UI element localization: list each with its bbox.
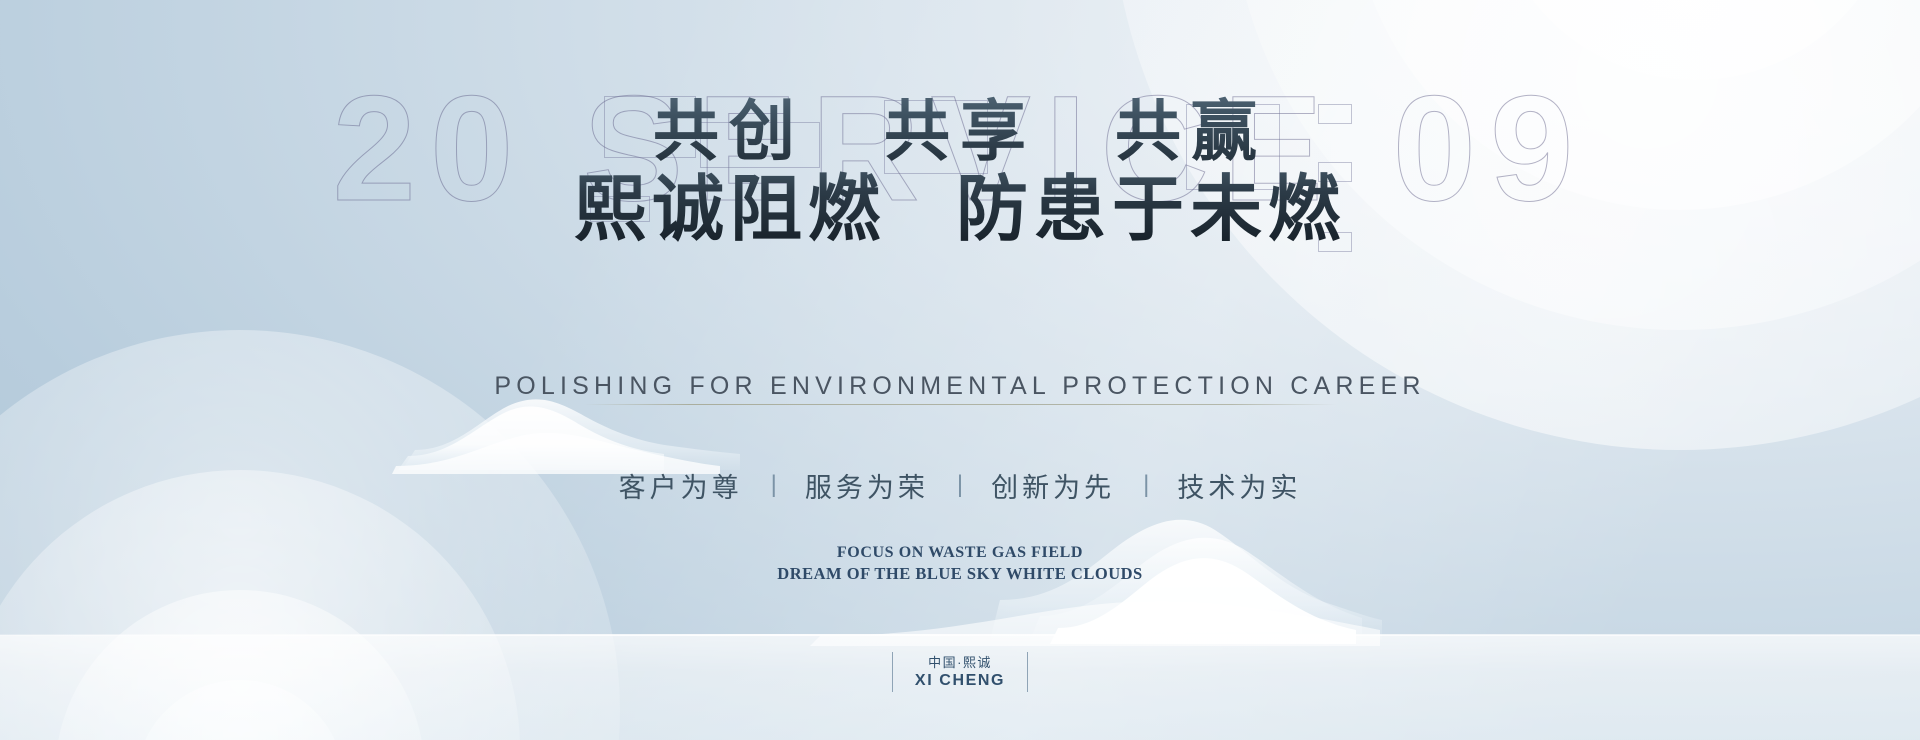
value-separator-3: | — [1141, 471, 1151, 499]
footer-logo: 中国·熙诚 XI CHENG — [0, 652, 1920, 692]
banner-hero: 20 SERVICE 09 — [0, 0, 1920, 740]
values-row: 客户为尊 | 服务为荣 | 创新为先 | 技术为实 — [0, 466, 1920, 505]
value-item-1: 客户为尊 — [593, 466, 769, 505]
logo-text: 中国·熙诚 XI CHENG — [915, 654, 1005, 690]
value-item-3: 创新为先 — [965, 466, 1141, 505]
value-item-2: 服务为荣 — [779, 466, 955, 505]
value-separator-2: | — [955, 471, 965, 499]
serif-subtitle-line-1: FOCUS ON WASTE GAS FIELD — [0, 542, 1920, 563]
logo-english: XI CHENG — [915, 671, 1005, 690]
headline-secondary: 熙诚阻燃 防患于未燃 — [0, 150, 1920, 255]
serif-subtitle-line-2: DREAM OF THE BLUE SKY WHITE CLOUDS — [0, 563, 1920, 585]
value-separator-1: | — [769, 471, 779, 499]
banner-content: 共创 共享 共赢 熙诚阻燃 防患于未燃 POLISHING FOR ENVIRO… — [0, 0, 1920, 740]
english-tagline: POLISHING FOR ENVIRONMENTAL PROTECTION C… — [0, 372, 1920, 401]
logo-bar-left — [892, 652, 893, 692]
logo-chinese: 中国·熙诚 — [915, 654, 1005, 671]
serif-subtitle: FOCUS ON WASTE GAS FIELD DREAM OF THE BL… — [0, 542, 1920, 585]
tagline-divider — [584, 404, 1336, 405]
logo-bar-right — [1027, 652, 1028, 692]
value-item-4: 技术为实 — [1151, 466, 1327, 505]
headline-secondary-word-2: 防患于未燃 — [956, 170, 1346, 250]
headline-secondary-word-1: 熙诚阻燃 — [574, 170, 886, 250]
